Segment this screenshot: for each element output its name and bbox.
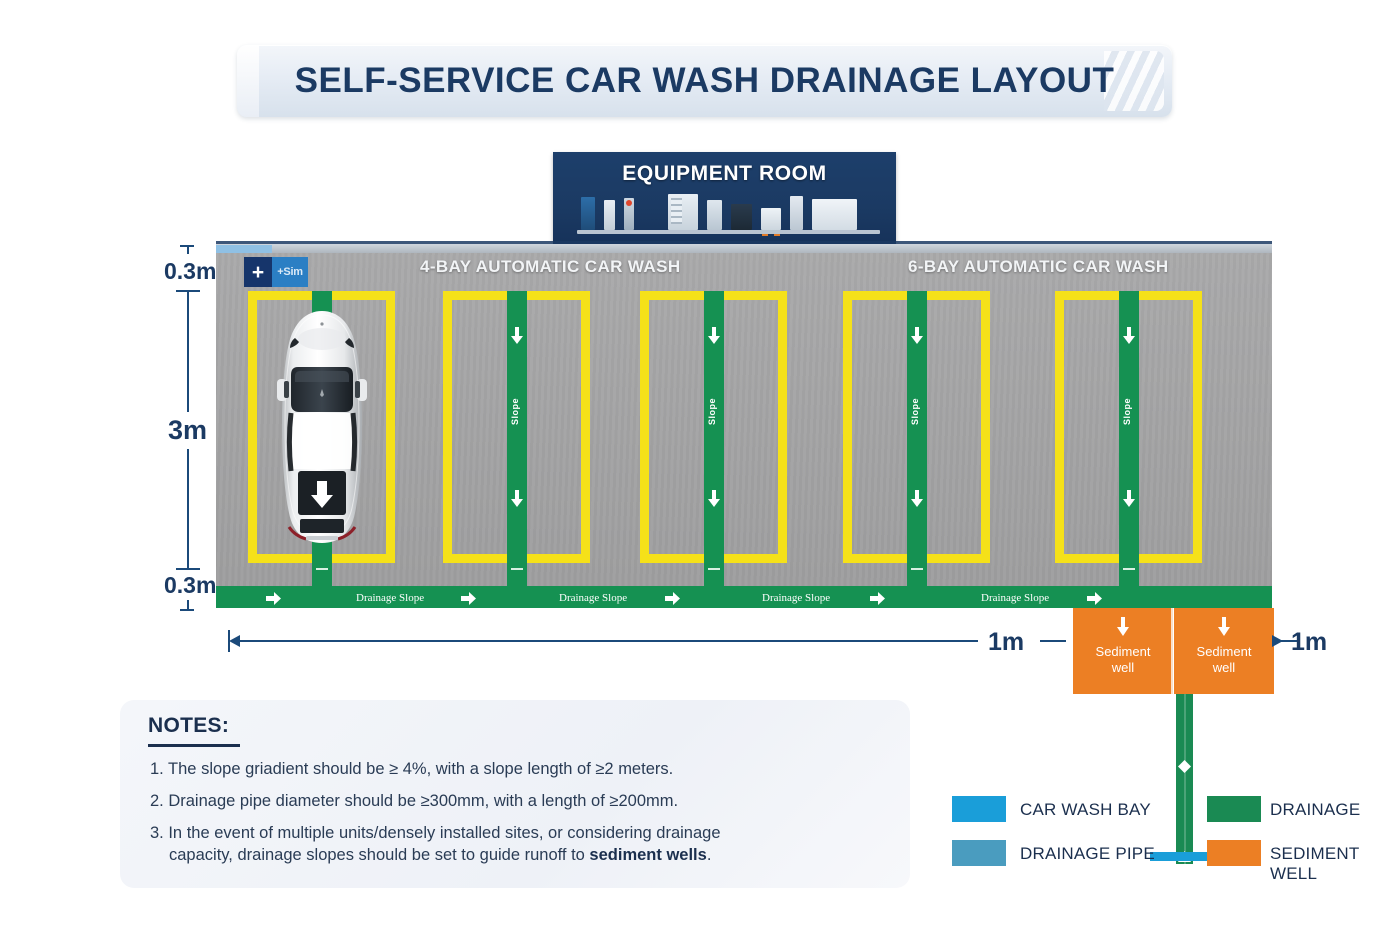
dimension-line-horizontal <box>238 640 978 642</box>
machine-column-icon <box>790 196 803 230</box>
channel-tick <box>511 568 523 570</box>
dim-tick-3m-bottom <box>176 568 200 570</box>
flow-arrow-down-icon <box>510 327 524 344</box>
legend-label-car-wash-bay: CAR WASH BAY <box>1020 800 1151 820</box>
sediment-well-label-line1: Sediment <box>1096 644 1151 659</box>
dim-tick-bottom <box>180 609 194 611</box>
vertical-drainage-pipe <box>1176 694 1193 864</box>
dim-tick-top-stem <box>187 245 189 254</box>
machine-panel-icon <box>707 200 722 230</box>
sediment-well-label-line2: well <box>1112 660 1134 675</box>
dimension-top-gap: 0.3m <box>164 258 216 285</box>
notes-heading: NOTES: <box>148 714 229 738</box>
car-wash-bay-4[interactable]: Slope <box>843 291 990 563</box>
machine-wide-unit-icon <box>812 199 857 230</box>
slope-label: Slope <box>707 398 721 425</box>
flow-arrow-right-icon <box>266 592 281 605</box>
flow-arrow-down-icon <box>707 327 721 344</box>
brand-logo-badge: + +Sim <box>244 257 308 287</box>
note-item-3-period: . <box>707 846 712 864</box>
flow-arrow-right-icon <box>870 592 885 605</box>
pipe-marker-icon <box>1178 760 1191 773</box>
flow-arrow-down-icon <box>1216 617 1232 636</box>
legend-swatch-car-wash-bay <box>952 796 1006 822</box>
dim-arrow-right-icon <box>1272 635 1283 647</box>
slope-label: Slope <box>510 398 524 425</box>
sediment-well-1[interactable]: Sediment well <box>1073 608 1173 694</box>
slope-label: Slope <box>910 398 924 425</box>
car-wash-bay-1[interactable]: Slope <box>248 291 395 563</box>
notes-panel: NOTES: 1. The slope griadient should be … <box>120 700 910 888</box>
dimension-pad-width: 1m <box>988 628 1024 657</box>
notes-underline <box>148 744 240 747</box>
sediment-well-label-line1: Sediment <box>1197 644 1252 659</box>
legend-swatch-sediment-well <box>1207 840 1261 866</box>
car-wash-bay-3[interactable]: Slope <box>640 291 787 563</box>
flow-arrow-down-icon <box>1115 617 1131 636</box>
flow-arrow-down-icon <box>1122 490 1136 507</box>
machine-cabinet-icon <box>731 204 752 230</box>
dim-tick-3m-top <box>176 290 200 292</box>
machine-filter-icon <box>604 200 615 230</box>
pad-top-edge <box>216 244 1272 253</box>
machine-ro-unit-icon <box>668 194 698 230</box>
section-heading-6bay: 6-BAY AUTOMATIC CAR WASH <box>908 257 1169 277</box>
note-item-3-emphasis: sediment wells <box>589 846 706 864</box>
page-title: SELF-SERVICE CAR WASH DRAINAGE LAYOUT <box>295 61 1115 101</box>
title-banner: SELF-SERVICE CAR WASH DRAINAGE LAYOUT <box>237 45 1172 117</box>
note-item-3-line2: capacity, drainage slopes should be set … <box>150 844 894 866</box>
flow-arrow-down-icon <box>510 490 524 507</box>
dimension-connector-left <box>1040 640 1066 642</box>
drainage-channel: Slope <box>704 291 724 592</box>
drainage-channel: Slope <box>1119 291 1139 592</box>
diagram-canvas: SELF-SERVICE CAR WASH DRAINAGE LAYOUT EQ… <box>0 0 1400 933</box>
flow-arrow-right-icon <box>1087 592 1102 605</box>
car-wash-bay-2[interactable]: Slope <box>443 291 590 563</box>
flow-arrow-down-icon <box>707 490 721 507</box>
channel-tick <box>708 568 720 570</box>
equipment-room-label: EQUIPMENT ROOM <box>553 162 896 186</box>
note-item-2: 2. Drainage pipe diameter should be ≥300… <box>150 790 894 812</box>
channel-tick <box>316 568 328 570</box>
equipment-machines <box>581 192 876 230</box>
note-item-3-line1: 3. In the event of multiple units/densel… <box>150 824 721 842</box>
machine-pressure-icon <box>624 198 634 230</box>
note-item-1: 1. The slope griadient should be ≥ 4%, w… <box>150 758 894 780</box>
well-divider <box>1171 608 1174 694</box>
dimension-bay-depth: 3m <box>164 412 211 449</box>
legend-swatch-drainage-pipe <box>952 840 1006 866</box>
flow-arrow-down-icon <box>910 490 924 507</box>
drainage-slope-label: Drainage Slope <box>981 592 1049 604</box>
note-item-3-text: capacity, drainage slopes should be set … <box>169 846 589 864</box>
drainage-slope-label: Drainage Slope <box>356 592 424 604</box>
legend-swatch-drainage <box>1207 796 1261 822</box>
legend-label-drainage-pipe: DRAINAGE PIPE <box>1020 844 1155 864</box>
flow-arrow-down-icon <box>1122 327 1136 344</box>
drainage-slope-label: Drainage Slope <box>762 592 830 604</box>
sediment-well-label: Sediment well <box>1073 644 1173 677</box>
equipment-shelf <box>577 230 880 234</box>
section-heading-4bay: 4-BAY AUTOMATIC CAR WASH <box>420 257 681 277</box>
sediment-well-label-line2: well <box>1213 660 1235 675</box>
machine-tank-icon <box>581 197 595 230</box>
channel-tick <box>911 568 923 570</box>
machine-controller-icon <box>761 208 781 230</box>
slope-label: Slope <box>1122 398 1136 425</box>
car-wash-bay-strip <box>216 245 272 253</box>
equipment-room-block: EQUIPMENT ROOM <box>553 152 896 244</box>
flow-arrow-right-icon <box>665 592 680 605</box>
logo-text: +Sim <box>272 257 308 287</box>
drainage-channel: Slope <box>507 291 527 592</box>
flow-arrow-right-icon <box>461 592 476 605</box>
legend-label-sediment-well: SEDIMENT WELL <box>1270 844 1380 885</box>
legend-label-drainage: DRAINAGE <box>1270 800 1360 820</box>
drainage-channel: Slope <box>907 291 927 592</box>
logo-plus-icon: + <box>244 257 272 287</box>
car-wash-bay-5[interactable]: Slope <box>1055 291 1202 563</box>
dimension-well-width: 1m <box>1291 628 1327 657</box>
dimension-bottom-gap: 0.3m <box>164 572 216 599</box>
sediment-well-label: Sediment well <box>1174 644 1274 677</box>
flow-arrow-down-icon <box>910 327 924 344</box>
note-item-3: 3. In the event of multiple units/densel… <box>150 822 894 867</box>
car-top-view-illustration <box>268 309 376 545</box>
drainage-slope-label: Drainage Slope <box>559 592 627 604</box>
channel-tick <box>1123 568 1135 570</box>
sediment-well-2[interactable]: Sediment well <box>1174 608 1274 694</box>
